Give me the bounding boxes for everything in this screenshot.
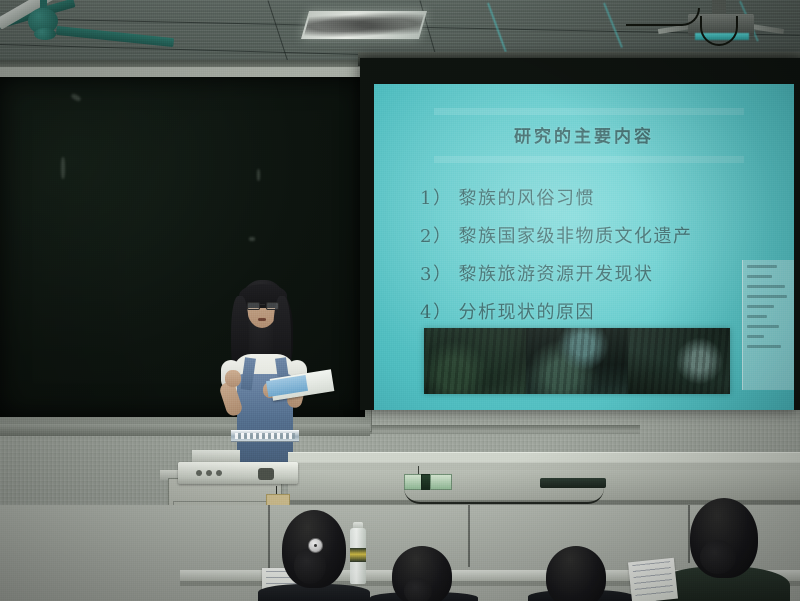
- slide-bullet-item: 4）分析现状的原因: [420, 298, 784, 324]
- student-head-front-right: [546, 546, 606, 601]
- slide-title: 研究的主要内容: [374, 122, 794, 147]
- projector-ceiling-mount: [712, 0, 726, 15]
- student-hair-bun: [404, 578, 432, 601]
- side-pane-line: [747, 315, 767, 318]
- slide-photo-loom: [526, 328, 628, 394]
- bullet-number: 1）: [420, 188, 452, 209]
- student-hair-bun: [294, 548, 326, 584]
- presenter-mouth: [258, 318, 266, 321]
- slide-side-pane: [742, 260, 794, 390]
- glasses-bridge: [259, 304, 265, 305]
- equipment-knob: [206, 470, 212, 476]
- chalk-mark: [249, 237, 255, 241]
- slide-bullet-list: 1）黎族的风俗习惯 2）黎族国家级非物质文化遗产 3）黎族旅游资源开发现状 4）…: [420, 184, 784, 336]
- projector-cable: [626, 8, 700, 26]
- partition-seam: [268, 505, 270, 571]
- photo-shading: [628, 328, 730, 394]
- glasses-lens: [266, 302, 279, 310]
- side-pane-line: [747, 265, 777, 268]
- ceiling-fan-motor: [34, 28, 56, 40]
- bottle-label: [350, 548, 366, 562]
- photo-shading: [526, 328, 628, 394]
- bullet-text: 黎族国家级非物质文化遗产: [458, 226, 692, 247]
- chalk-mark: [61, 157, 65, 179]
- side-pane-line: [747, 275, 772, 278]
- side-pane-line: [747, 285, 785, 288]
- belt-studs: [235, 433, 295, 439]
- equipment-lens: [258, 468, 274, 480]
- desk-cable: [404, 488, 604, 504]
- side-pane-line: [747, 295, 787, 298]
- slide-title-rule-top: [434, 108, 744, 115]
- slide-bullet-item: 2）黎族国家级非物质文化遗产: [420, 222, 784, 248]
- equipment-knob: [216, 470, 222, 476]
- presenter-hand-left: [225, 370, 241, 387]
- hair-clip: [308, 538, 323, 553]
- chalk-mark: [70, 93, 81, 102]
- bullet-number: 2）: [420, 226, 452, 247]
- desk-device: [540, 478, 606, 488]
- side-pane-line: [747, 345, 781, 348]
- slide-bullet-item: 1）黎族的风俗习惯: [420, 184, 784, 210]
- bullet-text: 黎族旅游资源开发现状: [458, 264, 653, 285]
- partition-seam: [468, 505, 470, 567]
- paper-lines: [632, 561, 673, 600]
- glasses-icon: [247, 302, 277, 308]
- student-hair-bun: [700, 540, 736, 574]
- bullet-number: 3）: [420, 264, 452, 285]
- chalk-mark: [257, 169, 260, 181]
- bullet-number: 4）: [420, 302, 452, 323]
- slide-photo-village: [424, 328, 526, 394]
- ceiling-light-panel: [301, 11, 427, 39]
- presenter: [205, 278, 325, 478]
- slide-photo-people: [628, 328, 730, 394]
- projection-screen: 研究的主要内容 1）黎族的风俗习惯 2）黎族国家级非物质文化遗产 3）黎族旅游资…: [360, 58, 800, 410]
- slide-title-rule-bottom: [434, 156, 744, 163]
- side-pane-line: [747, 305, 774, 308]
- side-pane-line: [747, 325, 779, 328]
- slide-bullet-item: 3）黎族旅游资源开发现状: [420, 260, 784, 286]
- photo-shading: [424, 328, 526, 394]
- bullet-text: 黎族的风俗习惯: [458, 188, 595, 209]
- student-handout: [628, 558, 678, 601]
- side-pane-line: [747, 335, 764, 338]
- bullet-text: 分析现状的原因: [458, 302, 595, 323]
- equipment-knob: [196, 470, 202, 476]
- slide-photo-strip: [424, 328, 730, 394]
- presenter-belt: [231, 430, 299, 442]
- presentation-slide: 研究的主要内容 1）黎族的风俗习惯 2）黎族国家级非物质文化遗产 3）黎族旅游资…: [374, 84, 794, 410]
- classroom-photo: 研究的主要内容 1）黎族的风俗习惯 2）黎族国家级非物质文化遗产 3）黎族旅游资…: [0, 0, 800, 601]
